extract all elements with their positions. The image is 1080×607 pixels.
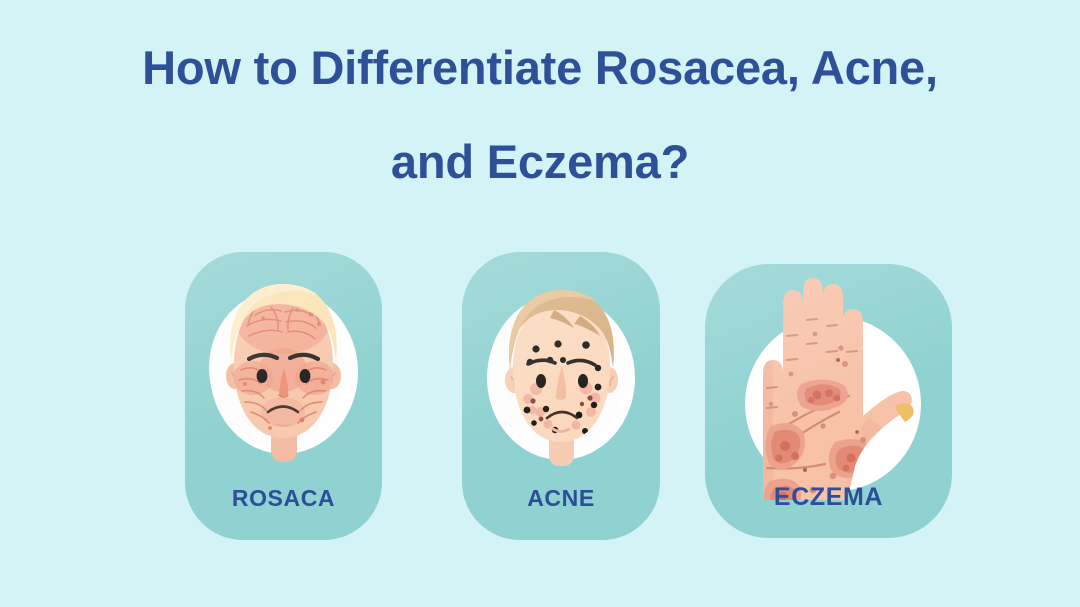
card-acne[interactable]: ACNE: [462, 252, 660, 540]
card-eczema[interactable]: ECZEMA: [705, 264, 952, 538]
card-label-acne: ACNE: [462, 485, 660, 512]
title-line-1: How to Differentiate Rosacea, Acne,: [0, 44, 1080, 91]
infographic-canvas: How to Differentiate Rosacea, Acne, and …: [0, 0, 1080, 607]
card-label-rosacea: ROSACA: [185, 485, 382, 512]
card-label-eczema: ECZEMA: [705, 483, 952, 512]
card-rosacea[interactable]: ROSACA: [185, 252, 382, 540]
page-title: How to Differentiate Rosacea, Acne, and …: [0, 44, 1080, 185]
title-line-2: and Eczema?: [0, 138, 1080, 185]
